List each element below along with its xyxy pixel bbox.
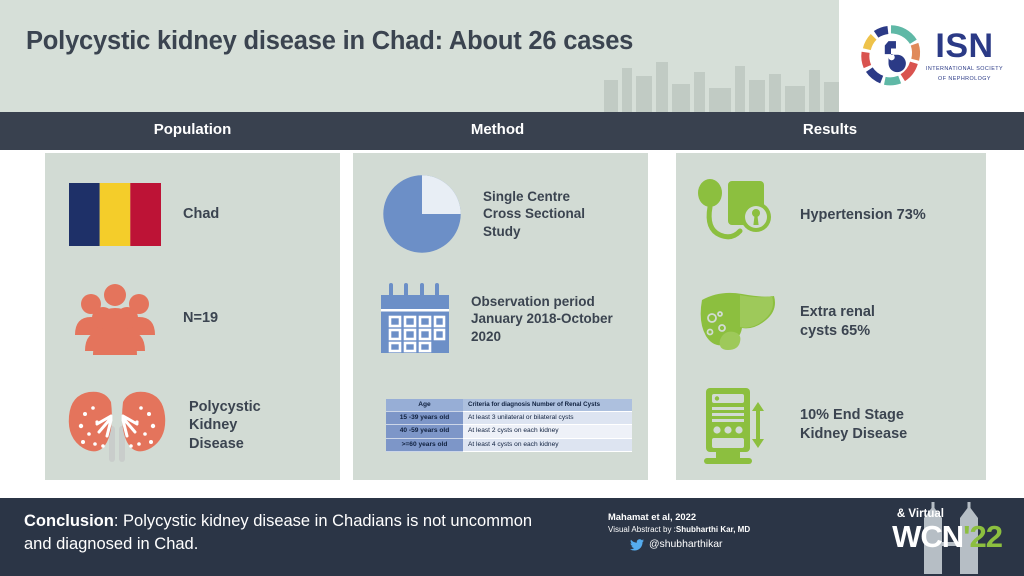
isn-subtitle-line2: OF NEPHROLOGY <box>938 75 991 83</box>
criteria-header-criteria: Criteria for diagnosis Number of Renal C… <box>463 399 632 412</box>
conclusion-label: Conclusion <box>24 512 114 530</box>
population-item-label: Chad <box>183 205 219 224</box>
table-row: 40 -59 years old At least 2 cysts on eac… <box>386 425 632 438</box>
population-item-label: Polycystic Kidney Disease <box>189 398 289 454</box>
population-item-sample-size: N=19 <box>69 281 324 356</box>
method-item-label: Observation period January 2018-October … <box>471 293 621 345</box>
wcn-year: '22 <box>963 519 1002 554</box>
results-panel: Hypertension 73% Extra renal cysts 65% <box>676 153 986 480</box>
poster-header: Polycystic kidney disease in Chad: About… <box>0 0 1024 112</box>
results-item-hypertension: Hypertension 73% <box>694 175 974 255</box>
kidneys-icon <box>67 386 167 466</box>
people-group-icon <box>69 283 161 355</box>
results-item-label: Extra renal cysts 65% <box>800 303 910 340</box>
column-header-population: Population <box>40 121 345 138</box>
criteria-table: Age Criteria for diagnosis Number of Ren… <box>386 399 632 452</box>
criteria-age-cell: 40 -59 years old <box>386 425 463 438</box>
visual-abstract-prefix: Visual Abstract by : <box>608 525 676 534</box>
population-item-label: N=19 <box>183 309 218 328</box>
population-item-disease: Polycystic Kidney Disease <box>67 383 325 468</box>
page-title: Polycystic kidney disease in Chad: About… <box>26 27 816 56</box>
method-item-study-design: Single Centre Cross Sectional Study <box>379 171 634 257</box>
wcn-text: WCN <box>892 519 963 554</box>
isn-circle-mark-icon <box>860 25 922 87</box>
wcn-logo: & Virtual WCN'22 <box>840 502 1010 574</box>
criteria-age-cell: >=60 years old <box>386 438 463 451</box>
results-item-label: Hypertension 73% <box>800 206 926 225</box>
population-item-chad: Chad <box>69 179 324 249</box>
poster-footer: Conclusion: Polycystic kidney disease in… <box>0 498 1024 576</box>
table-row: >=60 years old At least 4 cysts on each … <box>386 438 632 451</box>
method-panel: Single Centre Cross Sectional Study <box>353 153 648 480</box>
criteria-header-age: Age <box>386 399 463 412</box>
method-item-observation-period: Observation period January 2018-October … <box>377 281 639 357</box>
column-header-results: Results <box>675 121 985 138</box>
column-header-method: Method <box>350 121 645 138</box>
population-panel: Chad N=19 <box>45 153 340 480</box>
credits-block: Mahamat et al, 2022 Visual Abstract by :… <box>608 510 838 551</box>
isn-logo: ISN INTERNATIONAL SOCIETY OF NEPHROLOGY <box>839 0 1024 112</box>
criteria-desc-cell: At least 3 unilateral or bilateral cysts <box>463 412 632 425</box>
pie-chart-icon <box>379 171 465 257</box>
column-header-band: Population Method Results <box>0 112 1024 150</box>
table-row: 15 -39 years old At least 3 unilateral o… <box>386 412 632 425</box>
visual-abstract-author: Shubharthi Kar, MD <box>676 525 750 534</box>
twitter-handle: @shubharthikar <box>649 539 723 550</box>
visual-abstract-poster: Polycystic kidney disease in Chad: About… <box>0 0 1024 576</box>
method-item-label: Single Centre Cross Sectional Study <box>483 188 608 240</box>
calendar-icon <box>377 283 453 355</box>
chad-flag-icon <box>69 183 161 246</box>
twitter-bird-icon <box>630 539 644 551</box>
results-item-extra-renal-cysts: Extra renal cysts 65% <box>694 281 974 363</box>
twitter-credit[interactable]: @shubharthikar <box>608 539 838 551</box>
dialysis-machine-icon <box>694 384 778 466</box>
isn-letters: ISN <box>935 29 993 63</box>
skyline-watermark-icon <box>594 50 854 112</box>
criteria-desc-cell: At least 4 cysts on each kidney <box>463 438 632 451</box>
citation: Mahamat et al, 2022 <box>608 510 838 524</box>
conclusion-text: Conclusion: Polycystic kidney disease in… <box>24 510 564 557</box>
visual-abstract-credit: Visual Abstract by :Shubharthi Kar, MD <box>608 524 838 537</box>
blood-pressure-cuff-icon <box>694 177 778 253</box>
table-header-row: Age Criteria for diagnosis Number of Ren… <box>386 399 632 412</box>
isn-subtitle-line1: INTERNATIONAL SOCIETY <box>926 65 1003 73</box>
liver-icon <box>694 286 778 358</box>
results-item-end-stage-kidney-disease: 10% End Stage Kidney Disease <box>694 381 974 469</box>
criteria-age-cell: 15 -39 years old <box>386 412 463 425</box>
criteria-desc-cell: At least 2 cysts on each kidney <box>463 425 632 438</box>
wcn-name: WCN'22 <box>892 519 1002 555</box>
results-item-label: 10% End Stage Kidney Disease <box>800 406 925 443</box>
